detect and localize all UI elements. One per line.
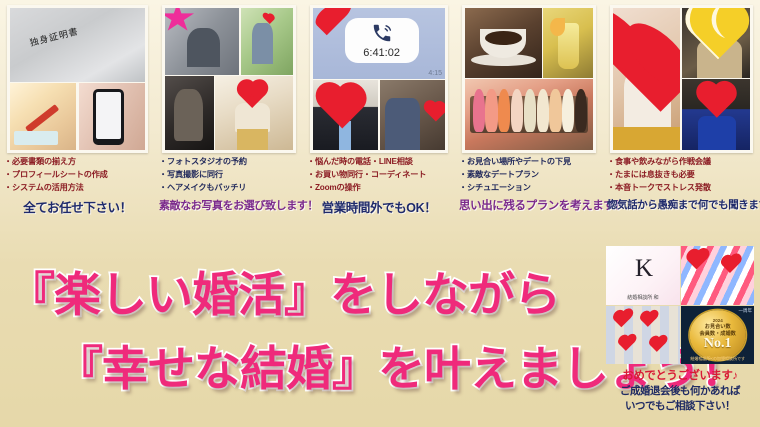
congratulation-messages: おめでとうございます♪ ご成婚退会後も何かあれば いつでもご相談下さい！	[604, 367, 756, 413]
bullet-item: ・写真撮影に同行	[159, 169, 299, 182]
photo-outdoor-pose	[241, 8, 293, 75]
bullet-item: ・フォトスタジオの予約	[159, 156, 299, 169]
feature-columns: 独身証明書 ・必要書類の揃え方 ・プロフィールシートの作	[0, 0, 760, 245]
photo-certificate: 独身証明書	[10, 8, 145, 82]
column-tagline: 素敵なお写真をお選び致します！	[159, 197, 299, 213]
bullet-item: ・食事や飲みながら作戦会議	[607, 156, 756, 169]
bullet-item: ・シチュエーション	[459, 182, 599, 195]
photo-portrait-heart	[215, 76, 293, 150]
bullet-item: ・お買い物同行・コーディネート	[307, 169, 451, 182]
message-line-3: いつでもご相談下さい！	[604, 398, 756, 413]
photo-collage-date	[462, 5, 596, 153]
photo-dining-woman	[613, 8, 680, 150]
photo-call-screen: 6:41:02 4:15	[313, 8, 445, 79]
photo-member-grid	[606, 306, 680, 364]
column-date-plan: ・お見合い場所やデートの下見 ・素敵なデートプラン ・シチュエーション 思い出に…	[455, 0, 603, 245]
photo-wedding-collage	[681, 246, 754, 305]
bullet-item: ・素敵なデートプラン	[459, 169, 599, 182]
brand-logo: K 結婚相談所 和	[606, 246, 680, 305]
bullet-list-support: ・悩んだ時の電話・LINE相談 ・お買い物同行・コーディネート ・Zoomの操作…	[303, 156, 455, 216]
column-photo-studio: ・フォトスタジオの予約 ・写真撮影に同行 ・ヘアメイクもバッチリ 素敵なお写真を…	[155, 0, 303, 245]
message-timestamp: 4:15	[428, 70, 442, 77]
headline-block: 『楽しい婚活』をしながら 『幸せな結婚』を叶えましょう！	[0, 248, 612, 426]
photo-dress-fitting	[165, 76, 214, 150]
headline-line-1: 『楽しい婚活』をしながら	[8, 256, 560, 325]
bullet-item: ・悩んだ時の電話・LINE相談	[307, 156, 451, 169]
column-tagline: 惚気話から愚痴まで何でも聞きます！	[607, 197, 756, 212]
photo-suit-man	[313, 80, 378, 150]
photo-blue-jacket-person	[682, 79, 751, 150]
medal-rank: No.1	[704, 338, 732, 352]
photo-lemon-drink	[543, 8, 593, 78]
medal-footnote: 結婚相談所Kの加盟相談所です	[681, 356, 754, 362]
award-medal-badge: 一周年 2024 お見合い数 会員数・成婚数 No.1 結婚相談所Kの加盟相談所…	[681, 306, 754, 364]
bullet-item: ・本音トークでストレス発散	[607, 182, 756, 195]
photo-coffee-cup	[465, 8, 542, 78]
photo-studio-shoot	[165, 8, 239, 75]
bullet-list-date: ・お見合い場所やデートの下見 ・素敵なデートプラン ・シチュエーション 思い出に…	[455, 156, 603, 213]
bullet-item: ・ヘアメイクもバッチリ	[159, 182, 299, 195]
photo-yellow-heart-person	[682, 8, 751, 78]
column-tagline: 思い出に残るプランを考えます！	[459, 197, 599, 213]
photo-collage-documents: 独身証明書	[7, 5, 148, 153]
photo-collage-studio	[162, 5, 296, 153]
bullet-item: ・必要書類の揃え方	[4, 156, 151, 169]
bullet-list-studio: ・フォトスタジオの予約 ・写真撮影に同行 ・ヘアメイクもバッチリ 素敵なお写真を…	[155, 156, 303, 213]
bullet-item: ・システムの活用方法	[4, 182, 151, 195]
photo-collage-support: 6:41:02 4:15	[310, 5, 448, 153]
bullet-item: ・お見合い場所やデートの下見	[459, 156, 599, 169]
bullet-list-documents: ・必要書類の揃え方 ・プロフィールシートの作成 ・システムの活用方法 全てお任せ…	[0, 156, 155, 216]
message-line-2: ご成婚退会後も何かあれば	[604, 383, 756, 398]
photo-venue	[380, 80, 445, 150]
brand-panel: K 結婚相談所 和 一周年 2024	[604, 246, 756, 426]
column-documents: 独身証明書 ・必要書類の揃え方 ・プロフィールシートの作	[0, 0, 155, 245]
logo-mark: K	[606, 255, 680, 283]
bullet-item: ・プロフィールシートの作成	[4, 169, 151, 182]
call-duration-card: 6:41:02	[345, 18, 419, 63]
photo-sushi-platter	[465, 79, 593, 150]
column-support-contact: 6:41:02 4:15	[303, 0, 455, 245]
phone-icon	[371, 22, 393, 44]
brand-collage: K 結婚相談所 和 一周年 2024	[606, 246, 754, 364]
call-duration-value: 6:41:02	[363, 47, 400, 59]
medal-tag: 一周年	[738, 308, 752, 314]
logo-subtitle: 結婚相談所 和	[606, 294, 680, 301]
photo-smartphone	[79, 83, 145, 150]
bullet-list-counselling: ・食事や飲みながら作戦会議 ・たまには息抜きも必要 ・本音トークでストレス発散 …	[603, 156, 760, 212]
photo-collage-counselling	[610, 5, 753, 153]
poster-canvas: 独身証明書 ・必要書類の揃え方 ・プロフィールシートの作	[0, 0, 760, 427]
photo-writing-hand	[10, 83, 76, 150]
medal-coin: 2024 お見合い数 会員数・成婚数 No.1	[689, 310, 746, 360]
bullet-item: ・たまには息抜きも必要	[607, 169, 756, 182]
column-tagline: 全てお任せ下さい！	[4, 197, 151, 216]
message-line-1: おめでとうございます♪	[604, 367, 756, 383]
column-counselling: ・食事や飲みながら作戦会議 ・たまには息抜きも必要 ・本音トークでストレス発散 …	[603, 0, 760, 245]
bullet-item: ・Zoomの操作	[307, 182, 451, 195]
medal-line-1: お見合い数	[705, 324, 731, 331]
column-tagline: 営業時間外でもOK！	[307, 197, 451, 216]
